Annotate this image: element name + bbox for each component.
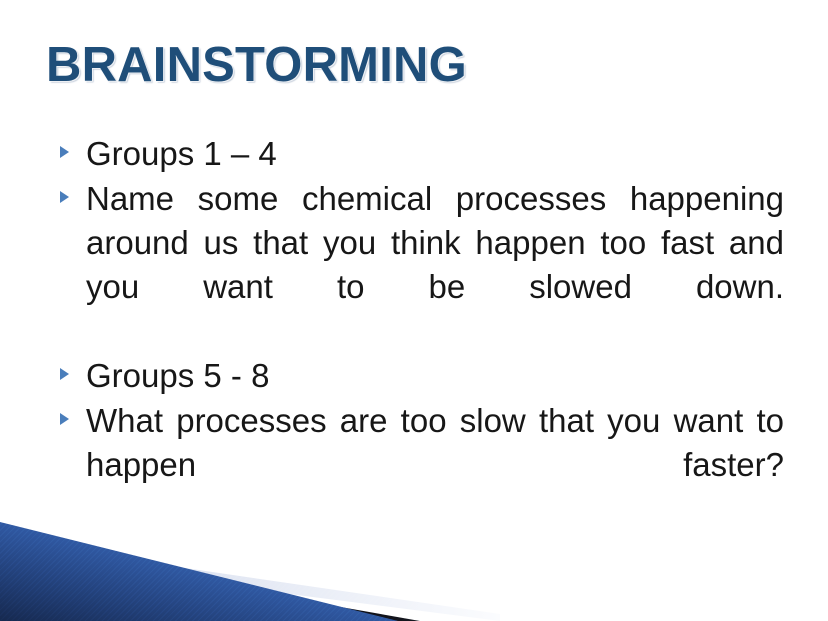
triangle-right-icon xyxy=(60,413,69,425)
list-item: Groups 5 - 8 xyxy=(58,354,784,398)
title-placeholder: BRAINSTORMING xyxy=(46,34,786,104)
black-diagonal-band xyxy=(0,547,420,621)
pale-diagonal-band xyxy=(0,541,500,621)
list-item: Groups 1 – 4 xyxy=(58,132,784,176)
list-item: What processes are too slow that you wan… xyxy=(58,399,784,531)
triangle-right-icon xyxy=(60,191,69,203)
list-item-label: Name some chemical processes happening a… xyxy=(86,177,784,353)
presentation-slide: BRAINSTORMING Groups 1 – 4 Name some che… xyxy=(0,0,828,621)
triangle-right-icon xyxy=(60,146,69,158)
triangle-right-icon xyxy=(60,368,69,380)
page-title: BRAINSTORMING xyxy=(46,34,786,96)
body-placeholder: Groups 1 – 4 Name some chemical processe… xyxy=(58,132,784,532)
list-item: Name some chemical processes happening a… xyxy=(58,177,784,353)
blue-diagonal-triangle xyxy=(0,522,398,621)
list-item-label: Groups 1 – 4 xyxy=(86,132,784,176)
list-item-label: Groups 5 - 8 xyxy=(86,354,784,398)
list-item-label: What processes are too slow that you wan… xyxy=(86,399,784,531)
